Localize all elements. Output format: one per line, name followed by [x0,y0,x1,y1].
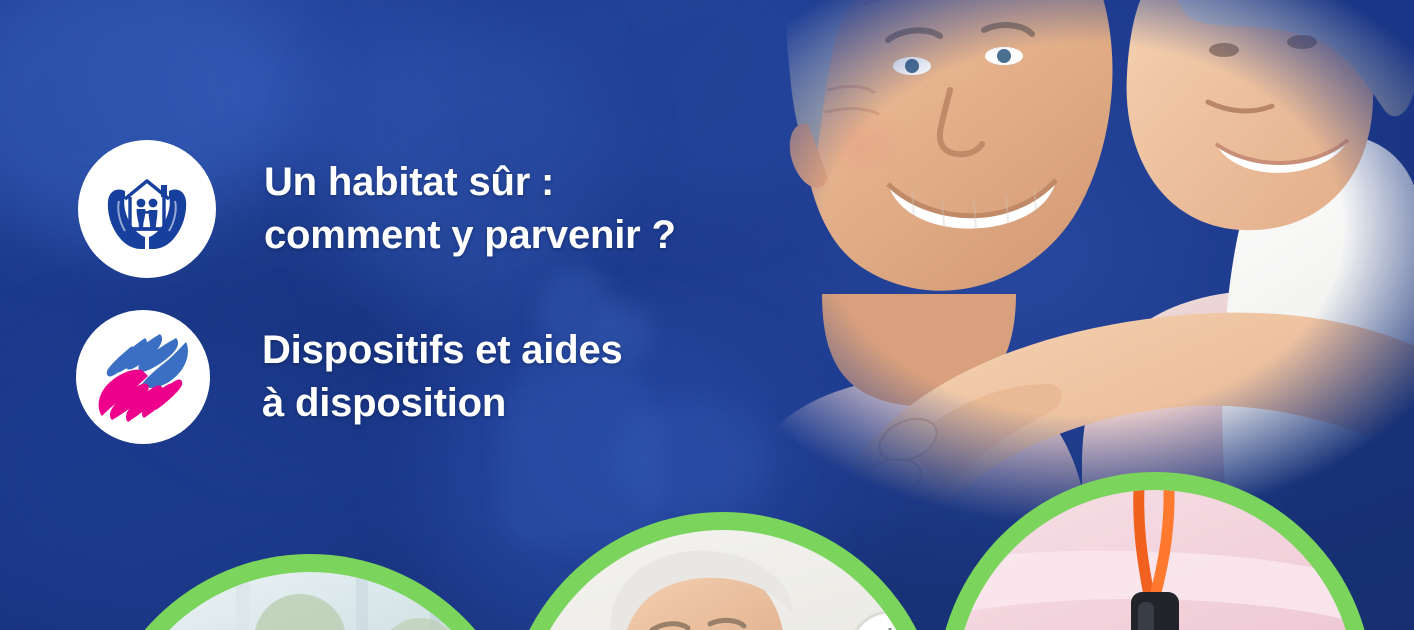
bullet-icon-badge-habitat [78,140,216,278]
hands-holding-house-icon [95,157,199,261]
bullet-item-dispositifs: Dispositifs et aides à disposition [76,310,623,444]
helping-hands-icon [90,324,196,430]
banner-root: Smiling elderly man in a pink shirt embr… [0,0,1414,630]
bullet-text-habitat: Un habitat sûr : comment y parvenir ? [264,156,676,262]
photo-circle-right [937,470,1373,630]
photo-circle-center [505,512,969,630]
bullet-text-dispositifs: Dispositifs et aides à disposition [262,324,623,430]
photo-circle-left [92,554,528,630]
bullet-icon-badge-dispositifs [76,310,210,444]
bullet-item-habitat: Un habitat sûr : comment y parvenir ? [78,140,676,278]
